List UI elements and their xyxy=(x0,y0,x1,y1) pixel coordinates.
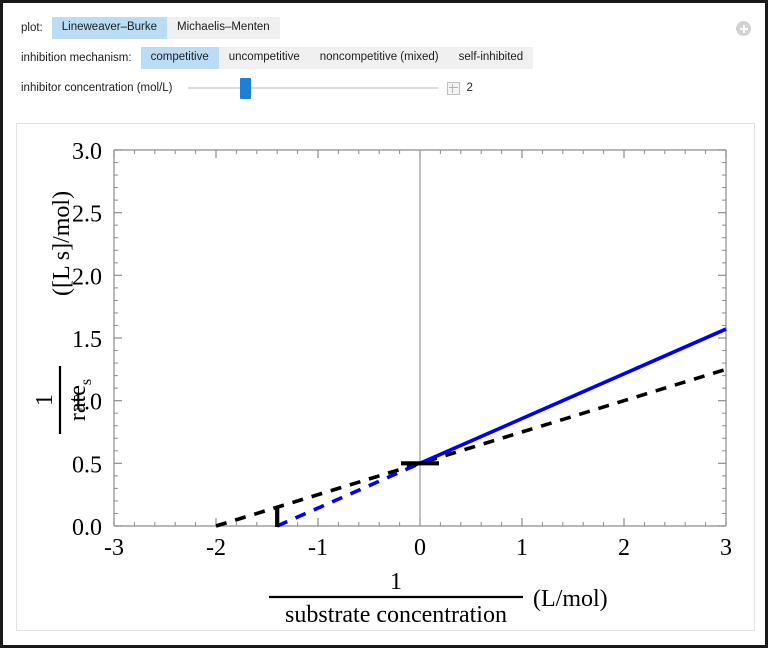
plot-type-label: plot: xyxy=(21,22,43,34)
series-uninhibited xyxy=(216,369,726,526)
x-axis-label-numerator: 1 xyxy=(390,569,402,595)
mechanism-row: inhibition mechanism: competitive uncomp… xyxy=(3,47,765,69)
setter-lineweaver-burke[interactable]: Lineweaver–Burke xyxy=(52,17,167,39)
y-tick-label: 1.5 xyxy=(72,327,102,353)
plot-type-setterbar[interactable]: Lineweaver–Burke Michaelis–Menten xyxy=(52,17,280,39)
y-tick-label: 0.0 xyxy=(72,515,102,541)
x-axis-label: 1substrate concentration(L/mol) xyxy=(269,569,608,628)
mechanism-label: inhibition mechanism: xyxy=(21,52,132,64)
controls-panel: plot: Lineweaver–Burke Michaelis–Menten … xyxy=(3,3,765,107)
x-tick-label: -3 xyxy=(104,535,124,561)
x-axis-label-denominator: substrate concentration xyxy=(285,602,507,628)
x-tick-label: 1 xyxy=(516,535,528,561)
mechanism-setterbar[interactable]: competitive uncompetitive noncompetitive… xyxy=(141,47,534,69)
slider-rail xyxy=(188,87,438,89)
y-tick-label: 2.5 xyxy=(72,202,102,228)
x-tick-label: -2 xyxy=(206,535,226,561)
x-tick-label: 2 xyxy=(618,535,630,561)
setter-michaelis-menten[interactable]: Michaelis–Menten xyxy=(167,17,280,39)
inhibitor-value: 2 xyxy=(467,82,473,94)
plot-type-row: plot: Lineweaver–Burke Michaelis–Menten xyxy=(3,17,765,39)
x-tick-label: 3 xyxy=(720,535,732,561)
series-inhibited-solid xyxy=(420,329,726,463)
setter-uncompetitive[interactable]: uncompetitive xyxy=(219,47,310,69)
inhibitor-concentration-label: inhibitor concentration (mol/L) xyxy=(21,82,173,94)
inhibitor-slider[interactable] xyxy=(188,80,438,96)
y-axis-label-denominator: rates xyxy=(65,379,95,421)
y-tick-label: 3.0 xyxy=(72,139,102,165)
inhibitor-concentration-row: inhibitor concentration (mol/L) 2 xyxy=(3,77,765,99)
plot-panel: -3-2-101230.00.51.01.52.02.53.01substrat… xyxy=(16,123,755,631)
plus-box-icon[interactable] xyxy=(447,82,460,95)
x-tick-label: -1 xyxy=(308,535,328,561)
x-tick-label: 0 xyxy=(414,535,426,561)
y-axis-label-units: ([L s]/mol) xyxy=(49,191,75,296)
setter-self-inhibited[interactable]: self-inhibited xyxy=(449,47,534,69)
y-tick-label: 0.5 xyxy=(72,452,102,478)
inhibitor-slider-wrap: 2 xyxy=(188,80,473,96)
application-window: plot: Lineweaver–Burke Michaelis–Menten … xyxy=(0,0,768,648)
slider-thumb[interactable] xyxy=(240,78,251,99)
series-inhibited-dashed xyxy=(277,463,420,526)
x-axis-label-units: (L/mol) xyxy=(533,586,608,612)
axis-ticks: -3-2-101230.00.51.01.52.02.53.0 xyxy=(72,139,732,561)
setter-competitive[interactable]: competitive xyxy=(141,47,219,69)
y-axis-label-numerator: 1 xyxy=(32,394,58,406)
y-tick-label: 2.0 xyxy=(72,264,102,290)
lineweaver-burke-plot: -3-2-101230.00.51.01.52.02.53.01substrat… xyxy=(17,124,754,630)
setter-noncompetitive-mixed[interactable]: noncompetitive (mixed) xyxy=(310,47,449,69)
